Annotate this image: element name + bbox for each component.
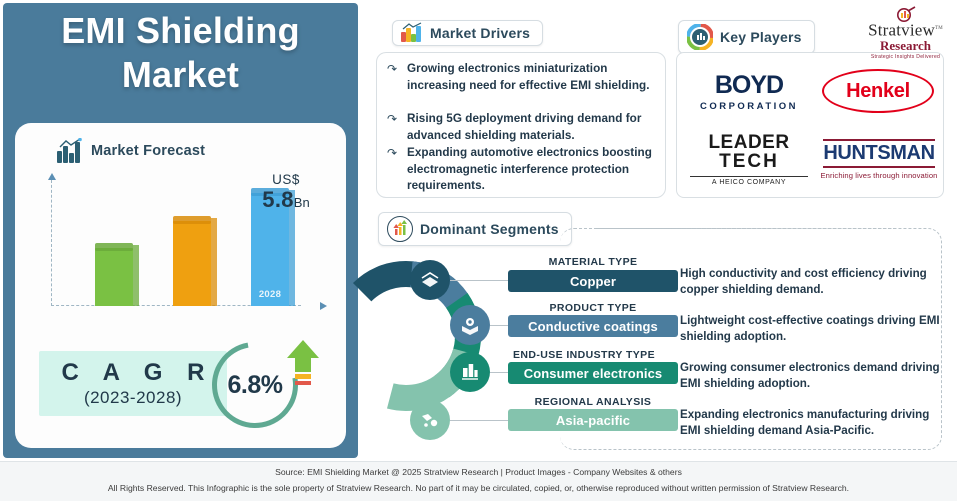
logo-boyd: BOYD CORPORATION bbox=[685, 59, 813, 123]
market-forecast-card: Market Forecast 2028 US$ 5.8Bn bbox=[15, 123, 346, 448]
market-forecast-label: Market Forecast bbox=[91, 143, 205, 159]
segment-value-badge[interactable]: Consumer electronics bbox=[508, 362, 678, 384]
infographic-root: EMI Shielding Market Market Forecast bbox=[0, 0, 957, 501]
page-title-line2: Market bbox=[3, 53, 358, 97]
logo-leader-tech-line2: TECH bbox=[719, 152, 779, 171]
market-driver-text: Rising 5G deployment driving demand for … bbox=[407, 111, 661, 144]
forecast-unit: Bn bbox=[294, 195, 310, 210]
dominant-segments-header: Dominant Segments bbox=[378, 212, 572, 246]
footer-source: Source: EMI Shielding Market @ 2025 Stra… bbox=[0, 467, 957, 477]
pie-chart-circle-icon bbox=[687, 24, 713, 50]
forecast-bar-chart: 2028 US$ 5.8Bn bbox=[45, 178, 320, 328]
forecast-value: 5.8 bbox=[262, 187, 293, 212]
green-up-arrow-icon bbox=[285, 338, 321, 394]
market-driver-item: ↷ Growing electronics miniaturization in… bbox=[387, 61, 661, 94]
bar-chart-colored-icon bbox=[401, 24, 423, 42]
segment-value-badge[interactable]: Conductive coatings bbox=[508, 315, 678, 337]
segment-description: Lightweight cost-effective coatings driv… bbox=[680, 313, 950, 345]
logo-boyd-name: BOYD bbox=[715, 71, 783, 100]
key-players-box: BOYD CORPORATION Henkel LEADER TECH A HE… bbox=[676, 52, 944, 198]
arrow-loop-icon: ↷ bbox=[387, 145, 400, 195]
segment-caption: PRODUCT TYPE bbox=[508, 302, 678, 314]
logo-boyd-sub: CORPORATION bbox=[700, 101, 798, 112]
segment-caption: END-USE INDUSTRY TYPE bbox=[490, 349, 678, 361]
segment-value-badge[interactable]: Copper bbox=[508, 270, 678, 292]
key-players-label: Key Players bbox=[720, 29, 802, 45]
key-players-pill[interactable]: Key Players bbox=[678, 20, 815, 54]
segment-value-badge[interactable]: Asia-pacific bbox=[508, 409, 678, 431]
logo-henkel-name: Henkel bbox=[822, 69, 934, 113]
left-blue-panel: EMI Shielding Market Market Forecast bbox=[3, 3, 358, 458]
bar-1 bbox=[95, 248, 133, 306]
market-forecast-header: Market Forecast bbox=[57, 139, 205, 163]
y-axis bbox=[51, 180, 52, 306]
segment-connector bbox=[490, 325, 508, 326]
logo-huntsman-tagline: Enriching lives through innovation bbox=[821, 171, 938, 180]
brand-name-bottom: Research bbox=[858, 39, 953, 53]
material-layers-icon bbox=[410, 260, 450, 300]
y-axis-arrow-icon bbox=[48, 173, 56, 180]
brand-trademark: TM bbox=[935, 26, 943, 31]
globe-map-icon bbox=[410, 400, 450, 440]
market-driver-text: Expanding automotive electronics boostin… bbox=[407, 145, 661, 195]
dominant-segments-pill[interactable]: Dominant Segments bbox=[378, 212, 572, 246]
segment-connector bbox=[450, 280, 508, 281]
cagr-period: (2023-2028) bbox=[39, 388, 227, 408]
segment-caption: REGIONAL ANALYSIS bbox=[508, 396, 678, 408]
bar-2 bbox=[173, 221, 211, 306]
market-drivers-header: Market Drivers bbox=[392, 20, 543, 46]
forecast-value-label: US$ 5.8Bn bbox=[241, 172, 331, 213]
segment-description: High conductivity and cost efficiency dr… bbox=[680, 266, 950, 298]
logo-huntsman: HUNTSMAN Enriching lives through innovat… bbox=[817, 131, 941, 187]
growth-arrow-icon bbox=[387, 216, 413, 242]
arrow-loop-icon: ↷ bbox=[387, 61, 400, 94]
logo-leader-tech-line1: LEADER bbox=[708, 133, 789, 152]
segment-description: Expanding electronics manufacturing driv… bbox=[680, 407, 950, 439]
market-driver-text: Growing electronics miniaturization incr… bbox=[407, 61, 661, 94]
market-drivers-label: Market Drivers bbox=[430, 25, 530, 41]
cagr-band: C A G R (2023-2028) bbox=[39, 351, 227, 416]
segment-description: Growing consumer electronics demand driv… bbox=[680, 360, 950, 392]
brand-name-top: StratviewTM bbox=[858, 20, 953, 39]
market-driver-item: ↷ Expanding automotive electronics boost… bbox=[387, 145, 661, 195]
logo-huntsman-name: HUNTSMAN bbox=[823, 139, 934, 168]
footer: Source: EMI Shielding Market @ 2025 Stra… bbox=[0, 461, 957, 501]
cagr-label: C A G R bbox=[39, 359, 227, 387]
segment-connector bbox=[490, 372, 508, 373]
arrow-loop-icon: ↷ bbox=[387, 111, 400, 144]
page-title-line1: EMI Shielding bbox=[3, 9, 358, 53]
logo-leader-tech-sub: A HEICO COMPANY bbox=[690, 176, 808, 186]
logo-leader-tech: LEADER TECH A HEICO COMPANY bbox=[683, 127, 815, 191]
segment-connector bbox=[450, 420, 508, 421]
page-title: EMI Shielding Market bbox=[3, 9, 358, 97]
key-players-header: Key Players bbox=[678, 20, 815, 54]
bar-chart-icon bbox=[57, 139, 83, 163]
market-drivers-pill[interactable]: Market Drivers bbox=[392, 20, 543, 46]
industry-buildings-icon bbox=[450, 352, 490, 392]
footer-rights: All Rights Reserved. This Infographic is… bbox=[0, 483, 957, 493]
dominant-segments-label: Dominant Segments bbox=[420, 221, 559, 237]
forecast-currency: US$ bbox=[241, 172, 331, 187]
market-drivers-box: ↷ Growing electronics miniaturization in… bbox=[376, 52, 666, 198]
segment-caption: MATERIAL TYPE bbox=[508, 256, 678, 268]
bar-3-year-label: 2028 bbox=[251, 289, 289, 300]
brand-tagline: Strategic Insights Delivered bbox=[858, 54, 953, 60]
market-driver-item: ↷ Rising 5G deployment driving demand fo… bbox=[387, 111, 661, 144]
logo-henkel: Henkel bbox=[819, 63, 937, 119]
brand-logo: StratviewTM Research Strategic Insights … bbox=[858, 6, 953, 56]
product-box-gear-icon bbox=[450, 305, 490, 345]
